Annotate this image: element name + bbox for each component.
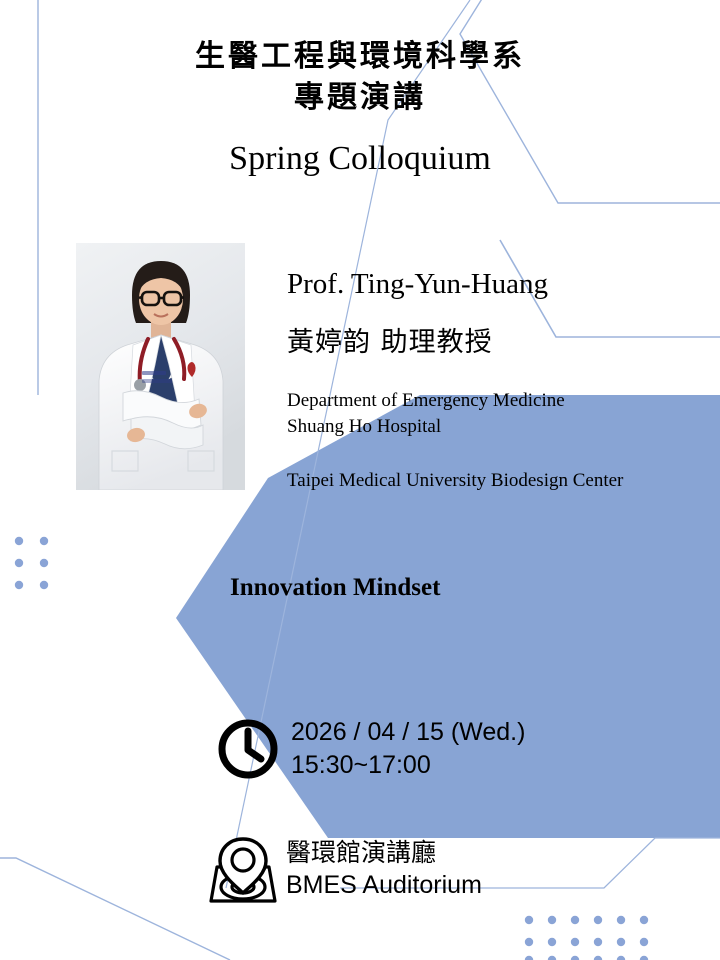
event-location-text: 醫環館演講廳 BMES Auditorium [286,837,482,902]
event-time-text: 2026 / 04 / 15 (Wed.) 15:30~17:00 [291,716,525,782]
bottom-left-hexagon-outline [0,858,230,960]
event-time-row: 2026 / 04 / 15 (Wed.) 15:30~17:00 [205,716,525,782]
speaker-name-en: Prof. Ting-Yun-Huang [287,268,548,301]
speaker-name-cn: 黃婷韵 助理教授 [287,320,493,359]
speaker-affiliation-secondary: Taipei Medical University Biodesign Cent… [287,470,623,492]
speaker-affiliation-primary: Department of Emergency Medicine Shuang … [287,388,565,440]
poster-canvas: 生醫工程與環境科學系 專題演講 Spring Colloquium [0,0,720,960]
series-title: Spring Colloquium [0,140,720,178]
event-location-cn: 醫環館演講廳 [286,837,482,870]
department-title: 生醫工程與環境科學系 專題演講 [0,36,720,119]
event-location-row: 醫環館演講廳 BMES Auditorium [200,833,482,905]
speaker-portrait [76,243,245,490]
event-location-en: BMES Auditorium [286,869,482,902]
dot-grid-bottom-right [525,916,648,960]
clock-icon [205,717,291,781]
map-pin-icon [200,833,286,905]
talk-title: Innovation Mindset [230,574,440,602]
dot-grid-left [15,537,48,589]
